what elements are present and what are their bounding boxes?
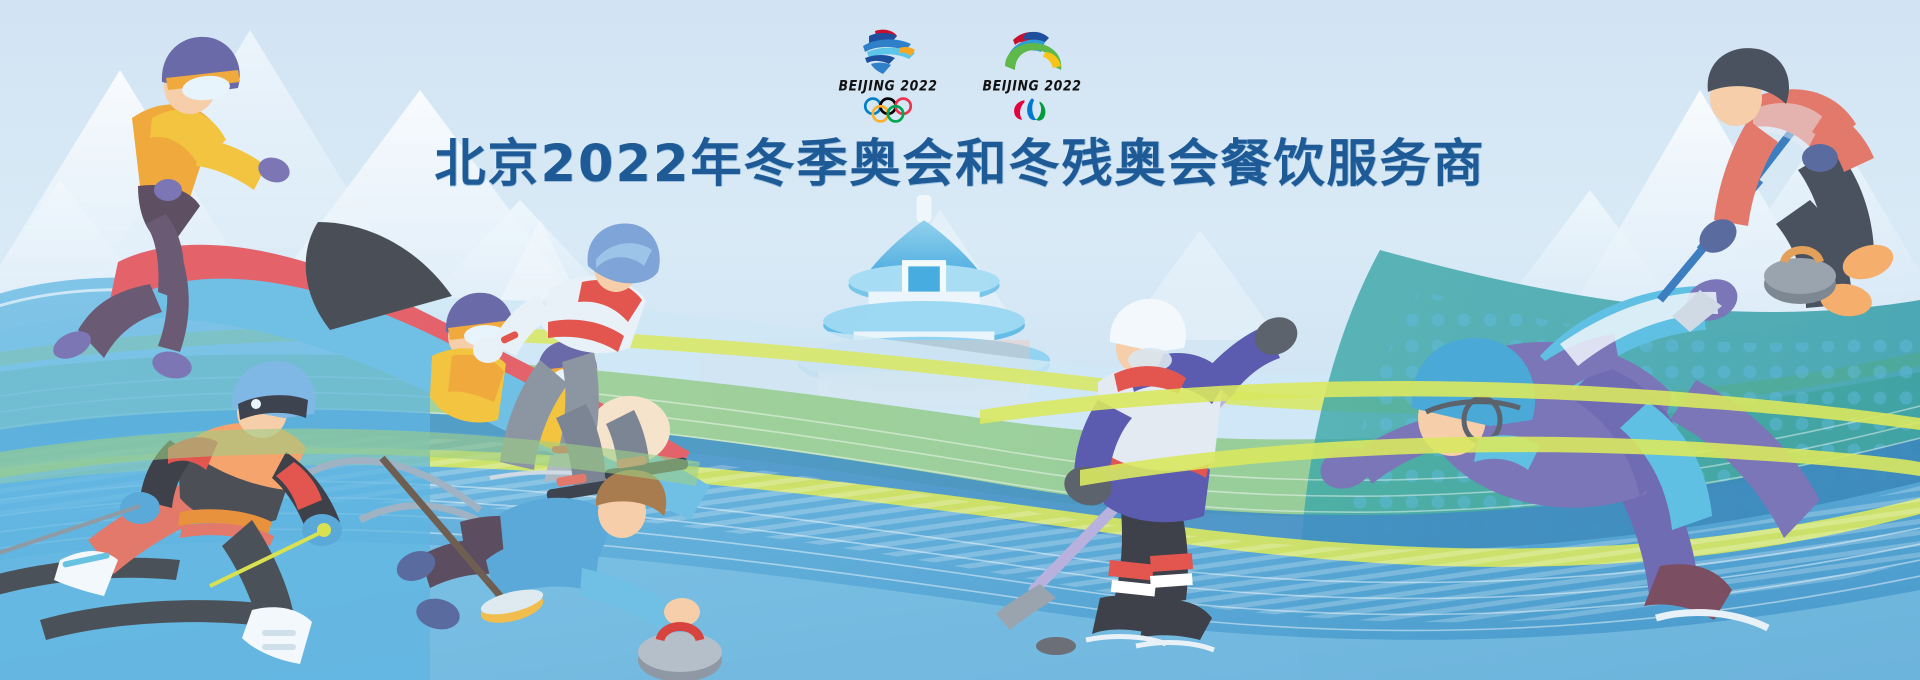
olympic-emblem-mark bbox=[847, 26, 929, 78]
p-emblem-yellow bbox=[1043, 52, 1061, 68]
agito-green bbox=[1036, 101, 1046, 120]
page-title: 北京2022年冬季奥会和冬残奥会餐饮服务商 bbox=[435, 122, 1486, 196]
agito-red bbox=[1014, 100, 1024, 120]
paralympic-wordmark: BEIJING 2022 bbox=[982, 79, 1081, 93]
ribbon-lime-fg bbox=[980, 381, 1920, 430]
olympic-rings-icon bbox=[840, 97, 936, 123]
emblem-ribbon-tail bbox=[871, 63, 891, 74]
agito-blue bbox=[1027, 98, 1036, 120]
beijing-2022-olympic-emblem: BEIJING 2022 bbox=[834, 26, 942, 123]
beijing-2022-paralympic-emblem: BEIJING 2022 bbox=[978, 26, 1086, 123]
olympic-wordmark: BEIJING 2022 bbox=[838, 79, 937, 93]
ribbon-green-fg bbox=[0, 429, 700, 486]
ribbon-lime-fg-2 bbox=[1080, 437, 1920, 486]
beijing-2022-catering-banner: BEIJING 2022 BEIJING 2022 bbox=[0, 0, 1920, 680]
emblem-row: BEIJING 2022 BEIJING 2022 bbox=[0, 26, 1920, 123]
paralympic-emblem-mark bbox=[991, 26, 1073, 78]
banner-title-wrap: 北京2022年冬季奥会和冬残奥会餐饮服务商 bbox=[0, 122, 1920, 196]
agitos-icon bbox=[992, 97, 1072, 123]
